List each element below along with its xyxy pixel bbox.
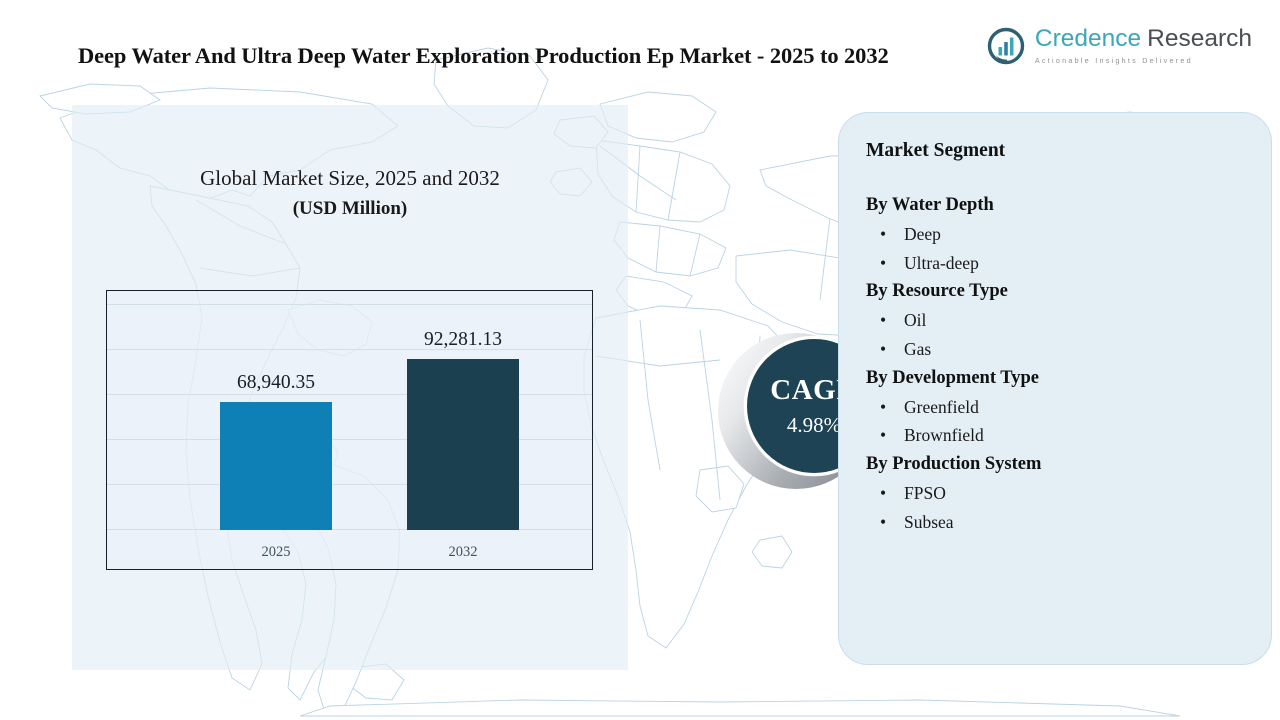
segment-group-heading: By Resource Type (866, 277, 1256, 306)
bar-chart-circle-icon (986, 26, 1026, 66)
segment-group-heading: By Production System (866, 450, 1256, 479)
bar-chart: 68,940.35202592,281.132032 (106, 290, 593, 570)
logo-brand-primary: Credence (1035, 25, 1141, 52)
bar-2025 (220, 402, 332, 530)
segment-item: •Greenfield (866, 393, 1256, 422)
logo-text: CredenceResearch Actionable Insights Del… (1035, 27, 1252, 65)
segment-item: •Deep (866, 220, 1256, 249)
logo-wordmark: CredenceResearch (1035, 27, 1252, 52)
segment-group-list: By Water Depth•Deep•Ultra-deepBy Resourc… (866, 191, 1256, 537)
segment-item-list: •Greenfield•Brownfield (866, 393, 1256, 451)
segment-group-heading: By Water Depth (866, 191, 1256, 220)
bar-value-label: 92,281.13 (358, 329, 568, 351)
segment-content: Market Segment By Water Depth•Deep•Ultra… (866, 140, 1256, 537)
page-title: Deep Water And Ultra Deep Water Explorat… (78, 40, 908, 72)
bar-column: 92,281.132032 (407, 359, 519, 530)
bar-value-label: 68,940.35 (171, 372, 381, 394)
logo-tagline: Actionable Insights Delivered (1035, 56, 1252, 65)
bullet-icon: • (880, 220, 886, 249)
segment-item-list: •Oil•Gas (866, 306, 1256, 364)
segment-item: •Subsea (866, 508, 1256, 537)
bullet-icon: • (880, 479, 886, 508)
infographic-canvas: Deep Water And Ultra Deep Water Explorat… (0, 0, 1280, 720)
segment-item: •FPSO (866, 479, 1256, 508)
bar-column: 68,940.352025 (220, 402, 332, 530)
bar-category-label: 2032 (383, 544, 543, 561)
chart-title: Global Market Size, 2025 and 2032 (72, 163, 628, 195)
segment-item: •Oil (866, 306, 1256, 335)
bullet-icon: • (880, 421, 886, 450)
bullet-icon: • (880, 249, 886, 278)
logo-brand-secondary: Research (1147, 25, 1252, 52)
bullet-icon: • (880, 393, 886, 422)
chart-subtitle: (USD Million) (72, 195, 628, 223)
segment-item: •Ultra-deep (866, 249, 1256, 278)
segment-item: •Brownfield (866, 421, 1256, 450)
chart-plot-area: 68,940.35202592,281.132032 (107, 291, 592, 569)
cagr-value: 4.98% (787, 414, 841, 437)
bullet-icon: • (880, 508, 886, 537)
segment-item-list: •Deep•Ultra-deep (866, 220, 1256, 278)
bar-category-label: 2025 (196, 544, 356, 561)
chart-heading: Global Market Size, 2025 and 2032 (USD M… (72, 163, 628, 222)
segment-item: •Gas (866, 335, 1256, 364)
segment-panel-title: Market Segment (866, 140, 1256, 162)
bar-2032 (407, 359, 519, 530)
bullet-icon: • (880, 335, 886, 364)
bullet-icon: • (880, 306, 886, 335)
company-logo: CredenceResearch Actionable Insights Del… (986, 26, 1252, 66)
segment-item-list: •FPSO•Subsea (866, 479, 1256, 537)
segment-group-heading: By Development Type (866, 364, 1256, 393)
